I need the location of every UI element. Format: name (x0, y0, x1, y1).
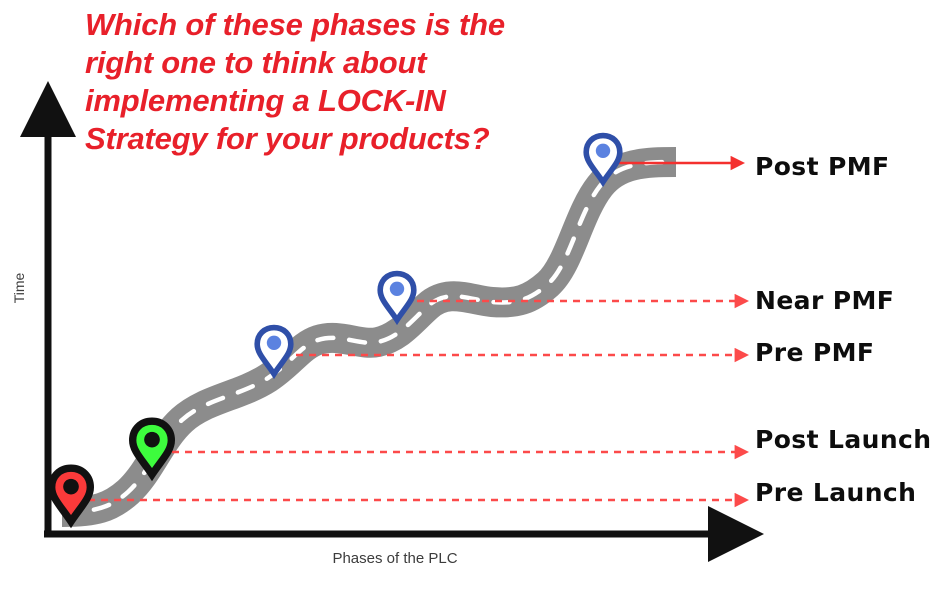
pin-post-launch-dot (144, 432, 160, 448)
phase-label-post-launch[interactable]: Post Launch (755, 425, 931, 454)
phase-label-pre-pmf[interactable]: Pre PMF (755, 338, 874, 367)
pin-pre-pmf-dot (267, 336, 281, 350)
pin-pre-launch-dot (63, 479, 79, 495)
phase-label-pre-launch[interactable]: Pre Launch (755, 478, 916, 507)
diagram-canvas: Which of these phases is the right one t… (0, 0, 934, 591)
pin-near-pmf-dot (390, 282, 404, 296)
phase-label-post-pmf[interactable]: Post PMF (755, 152, 890, 181)
y-axis-label: Time (11, 258, 27, 318)
phase-label-near-pmf[interactable]: Near PMF (755, 286, 894, 315)
x-axis-label: Phases of the PLC (230, 550, 560, 567)
pin-post-pmf-dot (596, 144, 610, 158)
